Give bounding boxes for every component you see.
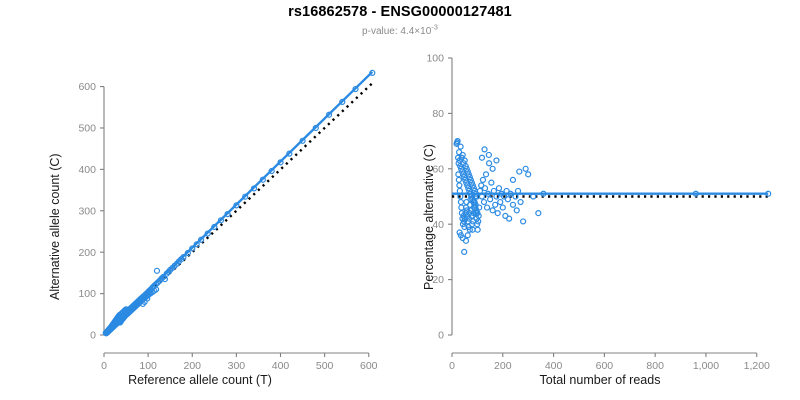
data-point <box>505 197 510 202</box>
right-y-axis-title: Percentage alternative (C) <box>422 144 436 290</box>
x-tick-label: 200 <box>494 360 512 372</box>
data-point <box>458 200 463 205</box>
data-point <box>510 177 515 182</box>
data-point <box>500 205 505 210</box>
data-point <box>517 169 522 174</box>
fit-line <box>104 72 372 334</box>
data-point <box>490 208 495 213</box>
right-panel: 02040608010002004006008001,0001,200 Perc… <box>400 0 800 400</box>
y-tick-label: 500 <box>78 123 96 135</box>
data-point <box>507 216 512 221</box>
data-point <box>154 268 159 273</box>
data-point <box>498 200 503 205</box>
x-tick-label: 300 <box>228 360 246 372</box>
data-point <box>493 202 498 207</box>
data-point <box>488 197 493 202</box>
y-tick-label: 100 <box>78 288 96 300</box>
y-tick-label: 600 <box>78 81 96 93</box>
left-y-axis-title: Alternative allele count (C) <box>48 153 62 300</box>
data-point <box>536 211 541 216</box>
x-tick-label: 600 <box>360 360 378 372</box>
data-point <box>526 172 531 177</box>
y-tick-label: 200 <box>78 247 96 259</box>
x-tick-label: 0 <box>101 360 107 372</box>
data-point <box>483 186 488 191</box>
data-point <box>521 219 526 224</box>
data-point <box>485 205 490 210</box>
x-tick-label: 500 <box>316 360 334 372</box>
data-point <box>456 177 461 182</box>
data-point <box>523 166 528 171</box>
x-tick-label: 800 <box>646 360 664 372</box>
x-tick-label: 1,000 <box>693 360 719 372</box>
right-x-axis-title: Total number of reads <box>400 373 800 387</box>
x-tick-label: 100 <box>139 360 157 372</box>
x-tick-label: 600 <box>596 360 614 372</box>
data-point <box>457 183 462 188</box>
data-point <box>462 249 467 254</box>
data-point <box>494 158 499 163</box>
data-point <box>482 147 487 152</box>
data-point <box>486 152 491 157</box>
percentage-alternative-scatter: 02040608010002004006008001,0001,200 <box>400 0 800 400</box>
y-tick-label: 0 <box>438 330 444 342</box>
left-panel: 01002003004005006000100200300400500600 A… <box>0 0 400 400</box>
data-point <box>465 233 470 238</box>
x-tick-label: 0 <box>449 360 455 372</box>
chart-page: rs16862578 - ENSG00000127481 p-value: 4.… <box>0 0 800 400</box>
data-point <box>489 180 494 185</box>
data-point <box>484 172 489 177</box>
x-tick-label: 1,200 <box>744 360 770 372</box>
y-tick-label: 0 <box>90 330 96 342</box>
data-point <box>518 200 523 205</box>
left-x-axis-title: Reference allele count (T) <box>0 373 400 387</box>
data-point <box>463 238 468 243</box>
x-tick-label: 200 <box>183 360 201 372</box>
data-point <box>490 166 495 171</box>
data-point <box>482 200 487 205</box>
data-point <box>495 211 500 216</box>
x-tick-label: 400 <box>545 360 563 372</box>
y-tick-label: 400 <box>78 164 96 176</box>
data-point <box>479 155 484 160</box>
y-tick-label: 80 <box>432 108 444 120</box>
data-point <box>514 208 519 213</box>
y-tick-label: 100 <box>426 53 444 65</box>
x-tick-label: 400 <box>272 360 290 372</box>
data-point <box>487 161 492 166</box>
data-point <box>510 202 515 207</box>
data-point <box>458 144 463 149</box>
data-point <box>480 177 485 182</box>
data-point <box>496 186 501 191</box>
data-point <box>475 227 480 232</box>
y-tick-label: 300 <box>78 205 96 217</box>
